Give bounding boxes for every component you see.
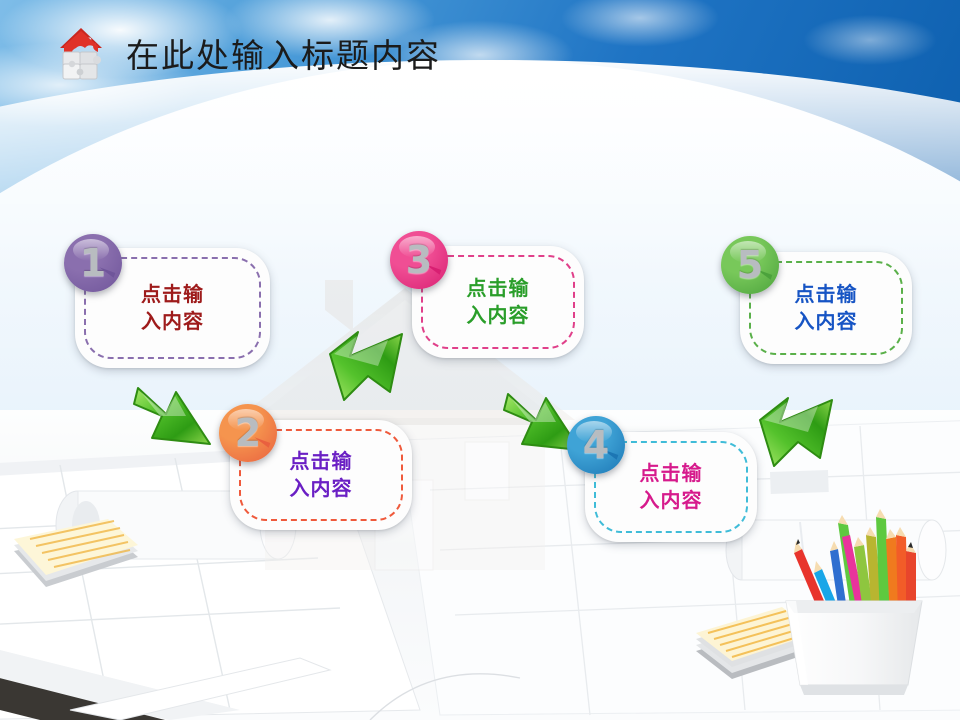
callout-3-number-badge[interactable]: 3	[390, 231, 454, 295]
slide-title-bar: 在此处输入标题内容	[50, 22, 441, 84]
slide-canvas: BOARD	[0, 0, 960, 720]
callout-5-number: 5	[721, 236, 779, 294]
arrow-up-right-icon-1	[322, 322, 418, 408]
callout-4-number: 4	[567, 416, 625, 474]
callout-1-number-badge[interactable]: 1	[64, 234, 128, 298]
callout-2-number: 2	[219, 404, 277, 462]
puzzle-house-icon	[50, 22, 112, 84]
callout-5-number-badge[interactable]: 5	[721, 236, 785, 300]
arrow-up-right-icon-2	[752, 388, 848, 474]
slide-title: 在此处输入标题内容	[126, 29, 441, 77]
callout-1-number: 1	[64, 234, 122, 292]
note-pad	[10, 495, 140, 605]
callout-3-number: 3	[390, 231, 448, 289]
arrow-down-right-icon-1	[128, 372, 224, 458]
callout-2-number-badge[interactable]: 2	[219, 404, 283, 468]
callout-4-number-badge[interactable]: 4	[567, 416, 631, 480]
